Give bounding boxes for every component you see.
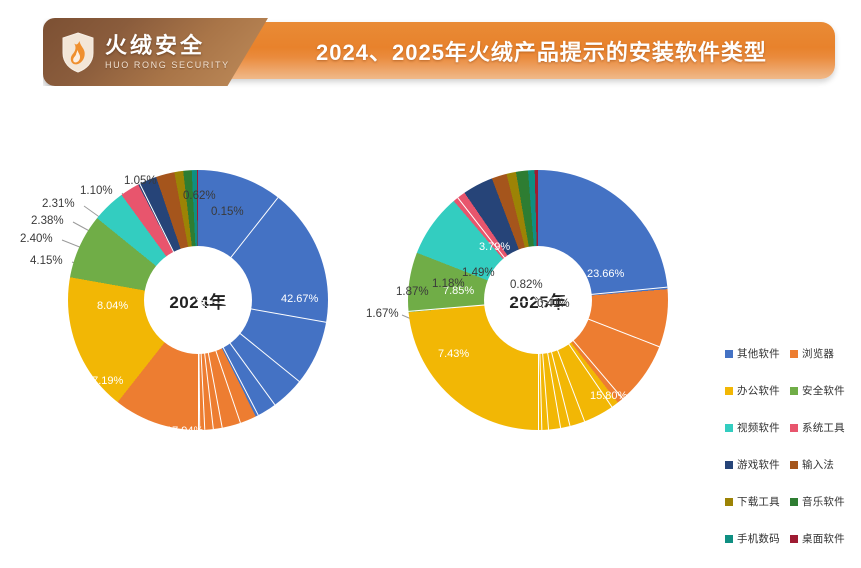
slice-label-2025-10: 0.82% [510,279,543,291]
legend-swatch-icon [725,535,733,543]
legend-row: 手机数码 桌面软件 [725,531,855,568]
slice-label-2025-3: 7.43% [438,348,469,360]
legend-swatch-icon [790,387,798,395]
legend-swatch-icon [725,350,733,358]
legend-item-3[interactable]: 安全软件 [790,383,855,398]
legend-label: 音乐软件 [802,494,845,509]
logo-name-en: HUO RONG SECURITY [105,60,230,70]
shield-flame-icon [61,32,95,73]
title-bar: 2024、2025年火绒产品提示的安装软件类型 [190,22,835,79]
legend-item-4[interactable]: 视频软件 [725,420,790,435]
logo-text-block: 火绒安全 HUO RONG SECURITY [105,34,230,70]
slice-label-2024-2: 17.19% [86,375,123,387]
legend-row: 下载工具 音乐软件 [725,494,855,531]
legend-item-11[interactable]: 桌面软件 [790,531,855,546]
legend-row: 游戏软件 输入法 [725,457,855,494]
legend-row: 视频软件 系统工具 [725,420,855,457]
slice-label-2025-2: 34% [491,427,513,439]
legend-item-1[interactable]: 浏览器 [790,346,855,361]
legend-swatch-icon [725,424,733,432]
chart-page: 2024、2025年火绒产品提示的安装软件类型 火绒安全 HUO RONG SE… [0,0,861,533]
slice-label-2025-11: 0.41% [537,298,570,310]
chart-area: 2024年 42.67% 17.94% 17.19% 8.04% 4.15% 2… [0,108,861,533]
legend-label: 游戏软件 [737,457,780,472]
slice-label-2024-9: 1.05% [124,175,157,187]
slice-label-2025-8: 1.18% [432,278,465,290]
slice-label-2024-8: 1.10% [80,185,113,197]
legend-label: 浏览器 [802,346,834,361]
slice-label-2024-11: 0.15% [211,206,244,218]
slice-label-2024-4: 4.15% [30,255,63,267]
legend-item-6[interactable]: 游戏软件 [725,457,790,472]
legend-label: 下载工具 [737,494,780,509]
legend-label: 输入法 [802,457,834,472]
logo-name-cn: 火绒安全 [105,34,230,57]
legend-item-7[interactable]: 输入法 [790,457,855,472]
legend-label: 办公软件 [737,383,780,398]
slice-label-2024-10: 0.62% [183,190,216,202]
slice-label-2024-6: 2.38% [31,215,64,227]
slice-label-2024-3: 8.04% [97,300,128,312]
legend-label: 桌面软件 [802,531,845,546]
legend-swatch-icon [790,424,798,432]
slice-label-2025-0: 23.66% [587,268,624,280]
page-title: 2024、2025年火绒产品提示的安装软件类型 [190,22,835,79]
legend-label: 视频软件 [737,420,780,435]
slice-label-2024-0: 42.67% [281,293,318,305]
legend-swatch-icon [790,498,798,506]
legend-item-0[interactable]: 其他软件 [725,346,790,361]
legend-swatch-icon [790,535,798,543]
legend-row: 其他软件 浏览器 [725,346,855,383]
slice-label-2025-7: 1.87% [396,286,429,298]
legend-label: 其他软件 [737,346,780,361]
legend-swatch-icon [790,461,798,469]
legend-item-5[interactable]: 系统工具 [790,420,855,435]
legend-swatch-icon [725,461,733,469]
slice-label-2024-7: 2.31% [42,198,75,210]
legend-item-9[interactable]: 音乐软件 [790,494,855,509]
legend-label: 系统工具 [802,420,845,435]
legend-swatch-icon [725,387,733,395]
page-header: 2024、2025年火绒产品提示的安装软件类型 火绒安全 HUO RONG SE… [0,0,861,108]
legend-item-8[interactable]: 下载工具 [725,494,790,509]
slice-label-2025-1: 15.80% [590,390,627,402]
legend-swatch-icon [790,350,798,358]
legend-label: 手机数码 [737,531,780,546]
legend-item-10[interactable]: 手机数码 [725,531,790,546]
slice-label-2025-5: 1.67% [366,308,399,320]
slice-label-2024-5: 2.40% [20,233,53,245]
legend-swatch-icon [725,498,733,506]
slice-label-2024-1: 17.94% [166,425,203,437]
slice-label-2025-9: 1.49% [462,267,495,279]
legend-row: 办公软件 安全软件 [725,383,855,420]
slice-label-2025-6: 3.79% [479,241,510,253]
legend-label: 安全软件 [802,383,845,398]
legend-item-2[interactable]: 办公软件 [725,383,790,398]
logo-block: 火绒安全 HUO RONG SECURITY [43,18,268,86]
chart-legend: 其他软件 浏览器 办公软件 安全软件 [725,346,855,568]
